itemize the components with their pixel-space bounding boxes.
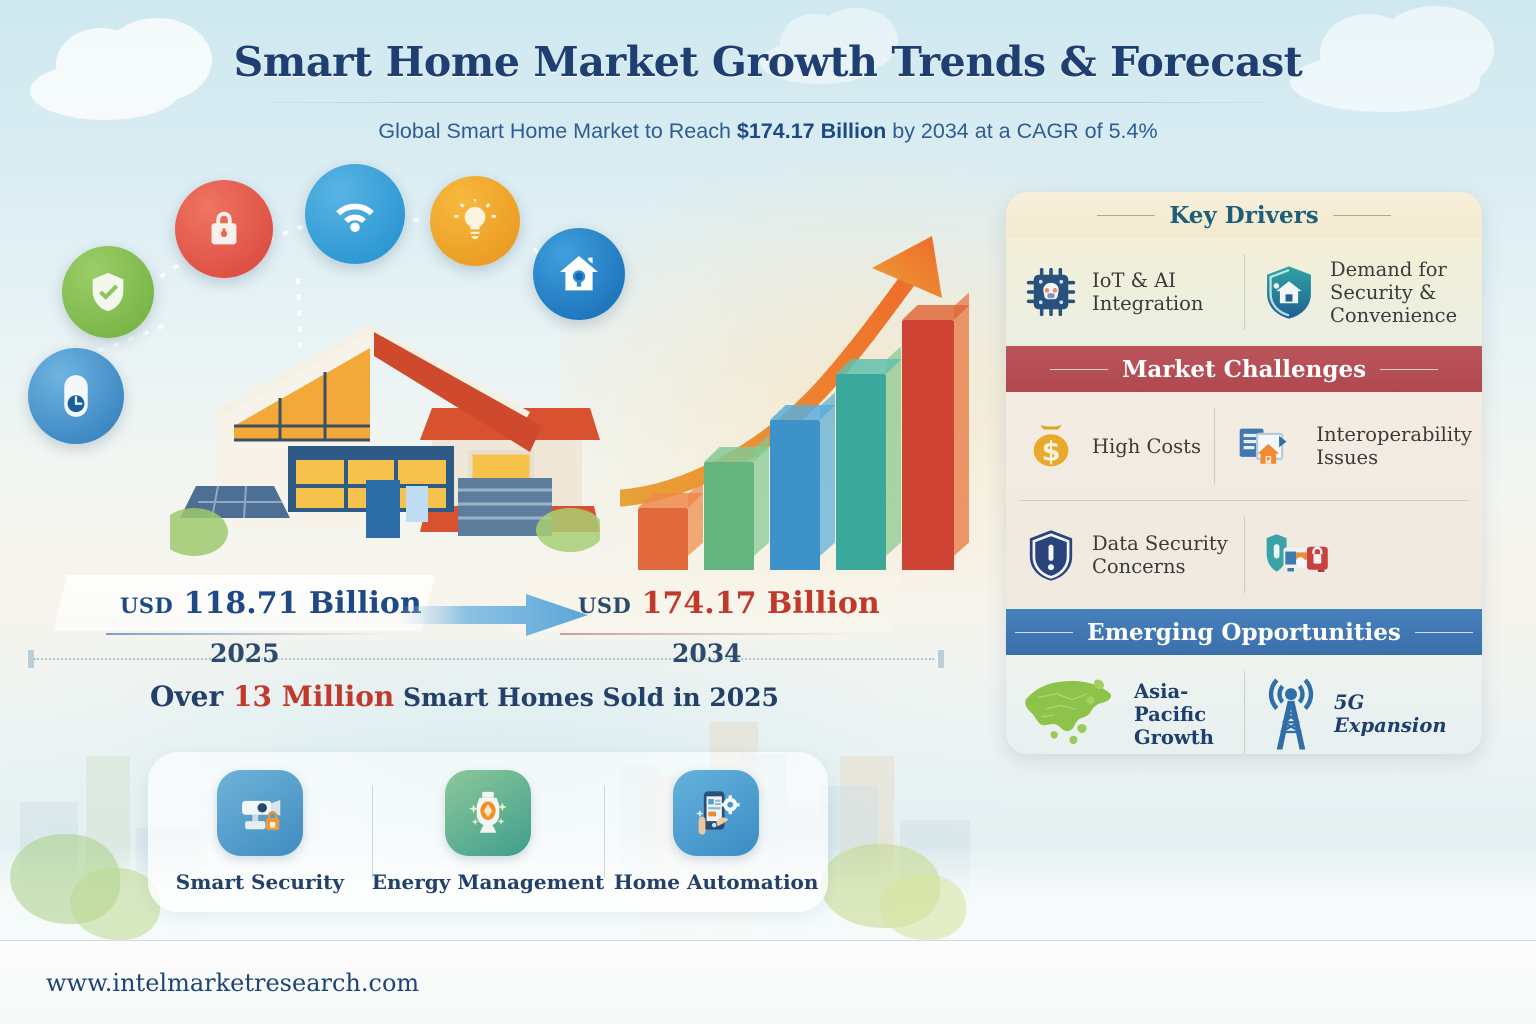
category-cards: Smart Security Energy Management — [148, 752, 828, 912]
chart-bar — [638, 508, 688, 570]
page-subtitle: Global Smart Home Market to Reach $174.1… — [0, 119, 1536, 144]
header-rule-left — [1015, 632, 1073, 633]
header-rule-right — [1333, 215, 1391, 216]
shield-house-icon — [1260, 263, 1318, 321]
challenge-label: Interoperability Issues — [1316, 423, 1472, 469]
opportunity-item-5g[interactable]: 5G Expansion — [1244, 655, 1482, 754]
challenge-label: High Costs — [1092, 435, 1201, 458]
end-value: 174.17 Billion — [642, 586, 880, 621]
wifi-icon — [305, 164, 405, 264]
phone-gear-icon — [673, 770, 759, 856]
section-title: Key Drivers — [1169, 202, 1318, 229]
start-value-box: USD 118.71 Billion — [74, 575, 414, 631]
header-rule-right — [1415, 632, 1473, 633]
locked-shield-device-icon — [1260, 526, 1334, 584]
section-body-key-drivers: IoT & AI Integration Demand for — [1006, 238, 1482, 346]
start-value: 118.71 Billion — [184, 586, 422, 621]
highlight-pre: Over — [150, 680, 233, 713]
header-rule-left — [1050, 369, 1108, 370]
end-year: 2034 — [672, 639, 742, 668]
opportunity-item-asia-pacific[interactable]: Asia-Pacific Growth — [1006, 655, 1244, 754]
section-header-key-drivers: Key Drivers — [1006, 192, 1482, 238]
section-body-market-challenges: $ High Costs — [1006, 392, 1482, 609]
shield-check-icon — [62, 246, 154, 338]
driver-label: Demand for Security & Convenience — [1330, 258, 1472, 327]
subtitle-highlight: $174.17 Billion — [737, 119, 886, 143]
challenge-item-data-security[interactable]: Data Security Concerns — [1006, 501, 1244, 609]
page-title: Smart Home Market Growth Trends & Foreca… — [0, 0, 1536, 86]
header-rule-left — [1097, 215, 1155, 216]
driver-item-iot-ai[interactable]: IoT & AI Integration — [1006, 238, 1244, 346]
section-body-emerging-opportunities: Asia-Pacific Growth — [1006, 655, 1482, 754]
category-card-energy-management[interactable]: Energy Management — [372, 770, 605, 894]
category-card-home-automation[interactable]: Home Automation — [604, 770, 828, 894]
category-label: Energy Management — [372, 870, 605, 894]
challenge-label: Data Security Concerns — [1092, 532, 1234, 578]
start-year: 2025 — [210, 639, 280, 668]
insights-panel: Key Drivers — [1006, 192, 1482, 754]
driver-label: IoT & AI Integration — [1092, 269, 1234, 315]
header: Smart Home Market Growth Trends & Foreca… — [0, 0, 1536, 144]
right-arrow-icon — [398, 592, 588, 638]
thermostat-icon — [28, 348, 124, 444]
category-label: Home Automation — [614, 870, 819, 894]
footer: www.intelmarketresearch.com — [0, 940, 1536, 1024]
smart-home-illustration — [0, 150, 1000, 590]
subtitle-post: by 2034 at a CAGR of 5.4% — [886, 119, 1157, 143]
category-card-smart-security[interactable]: Smart Security — [148, 770, 372, 894]
opportunity-label: 5G Expansion — [1334, 691, 1472, 737]
section-header-market-challenges: Market Challenges — [1006, 346, 1482, 392]
svg-text:$: $ — [1042, 436, 1061, 467]
section-title: Market Challenges — [1122, 356, 1366, 383]
homes-sold-highlight: Over 13 Million Smart Homes Sold in 2025 — [150, 680, 779, 713]
category-label: Smart Security — [176, 870, 344, 894]
energy-lamp-icon — [445, 770, 531, 856]
opportunity-label: Asia-Pacific Growth — [1134, 680, 1234, 749]
asia-map-icon — [1022, 685, 1122, 743]
chart-bar — [704, 462, 754, 570]
challenge-item-locked-device[interactable] — [1244, 501, 1482, 609]
money-bag-icon: $ — [1022, 417, 1080, 475]
driver-item-security-demand[interactable]: Demand for Security & Convenience — [1244, 238, 1482, 346]
header-rule-right — [1380, 369, 1438, 370]
security-camera-icon — [217, 770, 303, 856]
chart-bar — [836, 374, 886, 570]
challenge-item-interoperability[interactable]: Interoperability Issues — [1214, 392, 1482, 500]
section-header-emerging-opportunities: Emerging Opportunities — [1006, 609, 1482, 655]
chart-bar — [902, 320, 954, 570]
smart-house-illustration — [170, 280, 600, 560]
subtitle-pre: Global Smart Home Market to Reach — [378, 119, 736, 143]
highlight-post: Smart Homes Sold in 2025 — [394, 683, 779, 712]
title-divider — [228, 102, 1308, 103]
highlight-figure: 13 Million — [233, 680, 394, 713]
website-url[interactable]: www.intelmarketresearch.com — [46, 969, 419, 997]
growth-bar-chart — [620, 230, 980, 570]
section-title: Emerging Opportunities — [1087, 619, 1401, 646]
devices-mismatch-icon — [1230, 417, 1304, 475]
cell-tower-icon — [1260, 685, 1322, 743]
shield-alert-icon — [1022, 526, 1080, 584]
chart-bar — [770, 420, 820, 570]
lock-icon — [175, 180, 273, 278]
ai-chip-icon — [1022, 263, 1080, 321]
challenge-item-high-costs[interactable]: $ High Costs — [1006, 392, 1214, 500]
start-currency: USD — [120, 593, 173, 618]
lightbulb-icon — [430, 176, 520, 266]
